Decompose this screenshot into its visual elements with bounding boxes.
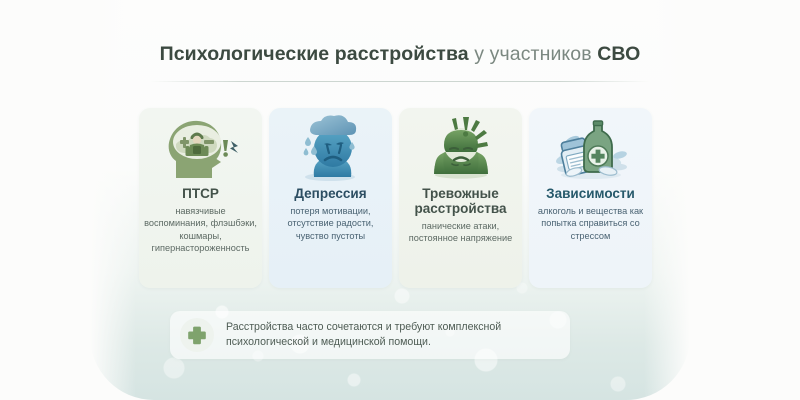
summary-note-line-2: психологической и медицинской помощи. xyxy=(226,335,501,350)
summary-note: Расстройства часто сочетаются и требуют … xyxy=(170,311,570,359)
disorder-card-depression[interactable]: Депрессия потеря мотивации, отсутствие р… xyxy=(269,108,392,288)
page-title-bold: Психологические расстройства xyxy=(160,43,469,65)
disorder-card-title: ПТСР xyxy=(139,184,262,201)
disorder-card-desc: потеря мотивации, отсутствие радости, чу… xyxy=(269,201,392,242)
disorder-card-desc: навязчивые воспоминания, флэшбэки, кошма… xyxy=(139,201,262,255)
disorder-card-desc: алкоголь и вещества как попытка справить… xyxy=(529,201,652,242)
stressed-person-head-in-hands-icon xyxy=(399,108,522,184)
disorder-card-list: ПТСР навязчивые воспоминания, флэшбэки, … xyxy=(139,108,657,288)
disorder-card-anxiety[interactable]: Тревожные расстройства панические атаки,… xyxy=(399,108,522,288)
disorder-card-addiction[interactable]: Зависимости алкоголь и вещества как попы… xyxy=(529,108,652,288)
disorder-card-title: Депрессия xyxy=(269,184,392,201)
disorder-card-title: Тревожные расстройства xyxy=(399,184,522,216)
page-title-bold-tail: СВО xyxy=(597,43,640,65)
medical-cross-icon xyxy=(180,318,214,352)
disorder-card-ptsd[interactable]: ПТСР навязчивые воспоминания, флэшбэки, … xyxy=(139,108,262,288)
infographic-canvas: Психологические расстройства у участнико… xyxy=(0,0,800,400)
summary-note-line-1: Расстройства часто сочетаются и требуют … xyxy=(226,320,501,335)
title-divider xyxy=(150,81,650,82)
sad-face-rain-cloud-icon xyxy=(269,108,392,184)
disorder-card-title: Зависимости xyxy=(529,184,652,201)
head-soldier-flashback-icon xyxy=(139,108,262,184)
pill-bottle-alcohol-bottle-icon xyxy=(529,108,652,184)
summary-note-text: Расстройства часто сочетаются и требуют … xyxy=(226,320,501,350)
page-title-regular: у участников xyxy=(474,43,591,65)
disorder-card-desc: панические атаки, постоянное напряжение xyxy=(399,216,522,245)
page-title: Психологические расстройства у участнико… xyxy=(0,43,800,66)
